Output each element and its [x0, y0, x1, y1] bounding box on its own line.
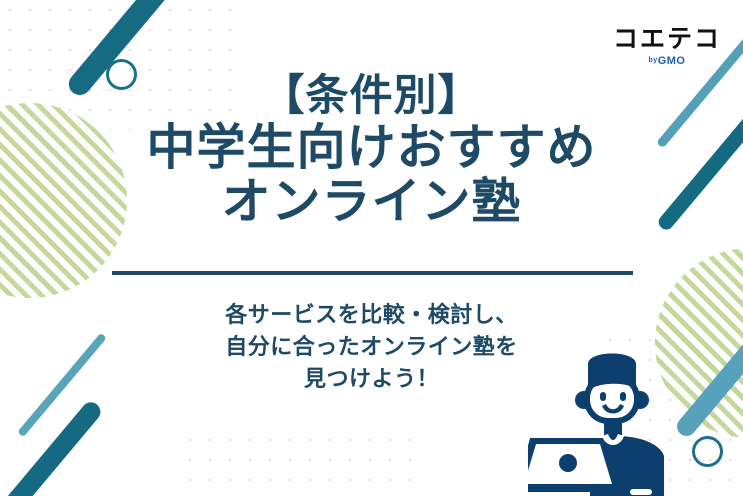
page-subtitle-line-1: 各サービスを比較・検討し、 [0, 300, 743, 332]
page-title-line-2: 中学生向けおすすめ [0, 122, 743, 174]
page-title-line-3: オンライン塾 [0, 176, 743, 228]
brand-logo-company: GMO [658, 55, 686, 67]
page-title-line-1: 【条件別】 [0, 74, 743, 120]
dot-grid-bottom-left [180, 430, 420, 496]
brand-logo-by: by [649, 57, 658, 64]
diagonal-bar-bottom-left-thick [0, 398, 104, 496]
brand-logo-text: コエテコ [613, 26, 721, 51]
laptop-logo-dot [559, 454, 577, 472]
page-title: 【条件別】 中学生向けおすすめ オンライン塾 [0, 74, 743, 227]
brand-logo[interactable]: コエテコ byGMO [613, 26, 721, 67]
person-with-laptop-illustration [528, 352, 698, 496]
title-divider [112, 271, 633, 275]
hero-banner: コエテコ byGMO 【条件別】 中学生向けおすすめ オンライン塾 各サービスを… [0, 0, 743, 496]
brand-logo-byline: byGMO [613, 56, 721, 67]
